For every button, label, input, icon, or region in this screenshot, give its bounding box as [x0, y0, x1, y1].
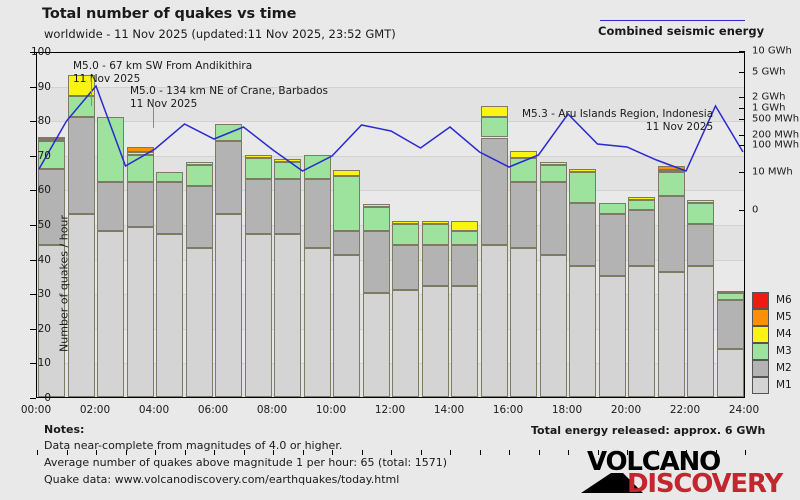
- legend-swatch: [752, 377, 769, 394]
- right-axis-tick: [739, 135, 745, 136]
- x-axis-tick-label: 00:00: [21, 404, 51, 416]
- legend-label: M2: [776, 362, 792, 374]
- legend-label: M4: [776, 328, 792, 340]
- right-axis-tick-label: 500 MWh: [752, 114, 799, 125]
- y-axis-tick: [30, 190, 36, 191]
- y-axis-tick: [30, 52, 36, 53]
- legend-swatch: [752, 343, 769, 360]
- y-axis-tick: [30, 87, 36, 88]
- annotation-leader-line: [153, 103, 154, 128]
- x-axis-tick: [480, 450, 481, 455]
- y-axis-tick: [30, 329, 36, 330]
- y-axis-label: Number of quakes / hour: [58, 204, 71, 364]
- y-axis-tick: [30, 260, 36, 261]
- logo-word-discovery: DISCOVERY: [627, 469, 782, 499]
- annotation-barbados: M5.0 - 134 km NE of Crane, Barbados11 No…: [130, 85, 328, 111]
- y-axis-tick: [30, 398, 36, 399]
- x-axis-tick: [37, 450, 38, 455]
- note-line: Data near-complete from magnitudes of 4.…: [44, 439, 342, 452]
- annotation-date: 11 Nov 2025: [130, 98, 328, 111]
- x-axis-tick-label: 20:00: [611, 404, 641, 416]
- legend-label: M6: [776, 294, 792, 306]
- annotation-andikithira: M5.0 - 67 km SW From Andikithira11 Nov 2…: [73, 60, 252, 86]
- y-axis-tick-label: 20: [0, 323, 56, 335]
- x-axis-tick-label: 24:00: [729, 404, 759, 416]
- x-axis-tick-label: 06:00: [198, 404, 228, 416]
- x-axis-tick: [509, 450, 510, 455]
- plot-top-border: [36, 52, 745, 53]
- right-axis-tick-label: 1 GWh: [752, 103, 786, 114]
- y-axis-tick-label: 10: [0, 357, 56, 369]
- right-axis-tick: [739, 97, 745, 98]
- energy-legend-label: Combined seismic energy: [598, 24, 764, 38]
- right-axis-tick: [739, 72, 745, 73]
- total-energy-label: Total energy released: approx. 6 GWh: [531, 424, 765, 437]
- plot-area: M5.0 - 67 km SW From Andikithira11 Nov 2…: [36, 52, 744, 398]
- x-axis-tick: [391, 450, 392, 455]
- y-axis-tick-label: 100: [0, 46, 56, 58]
- x-axis-tick-label: 04:00: [139, 404, 169, 416]
- y-axis-tick-label: 60: [0, 184, 56, 196]
- right-axis-line: [744, 52, 745, 398]
- right-axis-tick: [739, 210, 745, 211]
- x-axis-tick: [450, 450, 451, 455]
- right-axis-tick-label: 2 GWh: [752, 92, 786, 103]
- note-line[interactable]: Quake data: www.volcanodiscovery.com/ear…: [44, 473, 399, 486]
- x-axis-tick: [539, 450, 540, 455]
- right-axis-tick: [739, 172, 745, 173]
- annotation-date: 11 Nov 2025: [522, 121, 713, 134]
- x-axis-tick-label: 18:00: [552, 404, 582, 416]
- legend-swatch: [752, 360, 769, 377]
- x-axis-tick-label: 22:00: [670, 404, 700, 416]
- y-axis-tick-label: 0: [0, 392, 56, 404]
- legend-label: M1: [776, 379, 792, 391]
- y-axis-tick-label: 30: [0, 288, 56, 300]
- right-axis-tick: [739, 108, 745, 109]
- right-axis-tick-label: 100 MWh: [752, 140, 799, 151]
- y-axis-tick: [30, 225, 36, 226]
- energy-legend-line: [600, 20, 745, 21]
- right-axis-tick-label: 5 GWh: [752, 67, 786, 78]
- x-axis-tick-label: 12:00: [375, 404, 405, 416]
- legend-label: M3: [776, 345, 792, 357]
- x-axis-tick-label: 08:00: [257, 404, 287, 416]
- annotation-title: M5.0 - 67 km SW From Andikithira: [73, 60, 252, 73]
- annotation-aru-islands: M5.3 - Aru Islands Region, Indonesia11 N…: [522, 108, 713, 134]
- y-axis-tick: [30, 363, 36, 364]
- legend-swatch: [752, 326, 769, 343]
- x-axis-tick-label: 14:00: [434, 404, 464, 416]
- x-axis-tick: [568, 450, 569, 455]
- x-axis-tick-label: 10:00: [316, 404, 346, 416]
- right-axis-tick: [739, 51, 745, 52]
- notes-heading: Notes:: [44, 423, 84, 436]
- volcanodiscovery-logo[interactable]: VOLCANO DISCOVERY: [581, 447, 756, 493]
- y-axis-tick-label: 70: [0, 150, 56, 162]
- y-axis-tick-label: 40: [0, 254, 56, 266]
- right-axis-tick: [739, 119, 745, 120]
- x-axis-tick: [421, 450, 422, 455]
- page-subtitle: worldwide - 11 Nov 2025 (updated:11 Nov …: [44, 27, 396, 41]
- chart-page: Total number of quakes vs time worldwide…: [0, 0, 800, 500]
- legend-swatch: [752, 292, 769, 309]
- x-axis-tick-label: 16:00: [493, 404, 523, 416]
- right-axis-tick: [739, 145, 745, 146]
- y-axis-tick: [30, 294, 36, 295]
- annotation-title: M5.0 - 134 km NE of Crane, Barbados: [130, 85, 328, 98]
- page-title: Total number of quakes vs time: [42, 6, 296, 22]
- y-axis-tick-label: 80: [0, 115, 56, 127]
- x-axis-tick-label: 02:00: [80, 404, 110, 416]
- annotation-title: M5.3 - Aru Islands Region, Indonesia: [522, 108, 713, 121]
- y-axis-tick: [30, 156, 36, 157]
- note-line: Average number of quakes above magnitude…: [44, 456, 447, 469]
- legend-swatch: [752, 309, 769, 326]
- y-axis-tick-label: 90: [0, 81, 56, 93]
- right-axis-tick-label: 0: [752, 205, 758, 216]
- right-axis-tick-label: 10 MWh: [752, 167, 793, 178]
- y-axis-tick-label: 50: [0, 219, 56, 231]
- right-axis-tick-label: 10 GWh: [752, 46, 792, 57]
- annotation-leader-line: [91, 78, 92, 106]
- legend-label: M5: [776, 311, 792, 323]
- x-axis-tick: [362, 450, 363, 455]
- y-axis-tick: [30, 121, 36, 122]
